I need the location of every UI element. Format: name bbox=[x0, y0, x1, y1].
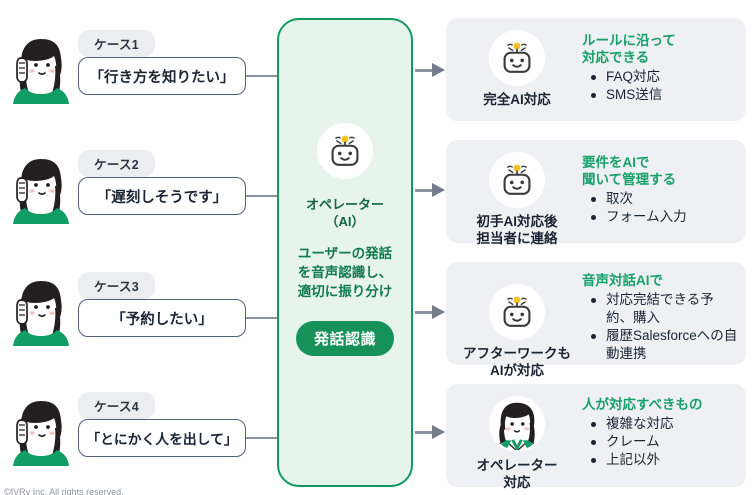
case-row-1: ケース1 「行き方を知りたい」 bbox=[0, 12, 270, 130]
result-card-2-identity: 初手AI対応後 担当者に連絡 bbox=[458, 152, 576, 247]
ai-operator-column: オペレーター （AI） ユーザーの発話 を音声認識し、 適切に振り分け 発話認識 bbox=[277, 18, 413, 487]
robot-icon bbox=[317, 123, 373, 179]
case-quote-2: 「遅刻しそうです」 bbox=[78, 177, 246, 215]
list-item: FAQ対応 bbox=[604, 68, 738, 86]
result-card-2-list: 取次 フォーム入力 bbox=[582, 190, 738, 226]
result-card-1-heading-line1: ルールに沿って bbox=[582, 32, 738, 49]
result-card-3-detail: 音声対話AIで 対応完結できる予約、購入 履歴Salesforceへの自動連携 bbox=[582, 272, 738, 363]
result-card-3-heading: 音声対話AIで bbox=[582, 272, 738, 289]
speech-recognition-tag: 発話認識 bbox=[296, 321, 394, 356]
list-item: 対応完結できる予約、購入 bbox=[604, 291, 738, 327]
operator-avatar-icon bbox=[489, 396, 545, 452]
result-card-1-heading: ルールに沿って 対応できる bbox=[582, 32, 738, 66]
result-card-4-detail: 人が対応すべきもの 複雑な対応 クレーム 上記以外 bbox=[582, 396, 738, 469]
result-card-4-label-line2: 対応 bbox=[477, 474, 558, 491]
robot-icon bbox=[489, 152, 545, 208]
list-item: 複雑な対応 bbox=[604, 415, 738, 433]
list-item: フォーム入力 bbox=[604, 208, 738, 226]
arrow-to-result-3 bbox=[415, 305, 445, 319]
result-card-3-list: 対応完結できる予約、購入 履歴Salesforceへの自動連携 bbox=[582, 291, 738, 363]
result-card-4: オペレーター 対応 人が対応すべきもの 複雑な対応 クレーム 上記以外 bbox=[446, 384, 746, 487]
arrow-to-result-4 bbox=[415, 425, 445, 439]
result-card-1-heading-line2: 対応できる bbox=[582, 49, 738, 66]
result-card-4-identity: オペレーター 対応 bbox=[458, 396, 576, 491]
result-card-1-detail: ルールに沿って 対応できる FAQ対応 SMS送信 bbox=[582, 32, 738, 104]
result-card-3: アフターワークも AIが対応 音声対話AIで 対応完結できる予約、購入 履歴Sa… bbox=[446, 262, 746, 365]
center-role-line1: オペレーター bbox=[279, 196, 411, 213]
center-description: ユーザーの発話 を音声認識し、 適切に振り分け bbox=[279, 244, 411, 301]
caller-avatar-icon bbox=[8, 32, 74, 104]
result-card-2-label-line2: 担当者に連絡 bbox=[477, 230, 558, 247]
list-item: SMS送信 bbox=[604, 86, 738, 104]
result-card-3-heading-line1: 音声対話AIで bbox=[582, 272, 738, 289]
case-label-4: ケース4 bbox=[78, 392, 155, 419]
case-row-4: ケース4 「とにかく人を出して」 bbox=[0, 374, 270, 492]
diagram-canvas: ケース1 「行き方を知りたい」 ケース2 「遅刻しそうです」 bbox=[0, 0, 752, 495]
center-desc-line3: 適切に振り分け bbox=[279, 282, 411, 301]
case-row-2: ケース2 「遅刻しそうです」 bbox=[0, 132, 270, 250]
result-card-1-label: 完全AI対応 bbox=[483, 91, 551, 108]
result-card-2-heading: 要件をAIで 聞いて管理する bbox=[582, 154, 738, 188]
result-card-1-label-line1: 完全AI対応 bbox=[483, 91, 551, 108]
center-desc-line2: を音声認識し、 bbox=[279, 263, 411, 282]
result-card-4-list: 複雑な対応 クレーム 上記以外 bbox=[582, 415, 738, 469]
result-card-2-label: 初手AI対応後 担当者に連絡 bbox=[477, 213, 558, 247]
case-label-1: ケース1 bbox=[78, 30, 155, 57]
arrow-to-result-1 bbox=[415, 63, 445, 77]
case-row-3: ケース3 「予約したい」 bbox=[0, 254, 270, 372]
result-card-2: 初手AI対応後 担当者に連絡 要件をAIで 聞いて管理する 取次 フォーム入力 bbox=[446, 140, 746, 243]
center-role-label: オペレーター （AI） bbox=[279, 196, 411, 230]
result-card-4-heading-line1: 人が対応すべきもの bbox=[582, 396, 738, 413]
result-card-2-heading-line1: 要件をAIで bbox=[582, 154, 738, 171]
center-robot-wrap bbox=[279, 123, 411, 179]
result-card-4-label-line1: オペレーター bbox=[477, 457, 558, 474]
case-label-2: ケース2 bbox=[78, 150, 155, 177]
robot-icon bbox=[489, 30, 545, 86]
footer-copyright: ©IVRy Inc. All rights reserved. bbox=[4, 487, 124, 495]
result-card-2-label-line1: 初手AI対応後 bbox=[477, 213, 558, 230]
result-card-4-heading: 人が対応すべきもの bbox=[582, 396, 738, 413]
caller-avatar-icon bbox=[8, 152, 74, 224]
list-item: 上記以外 bbox=[604, 451, 738, 469]
result-card-3-label: アフターワークも AIが対応 bbox=[463, 345, 571, 379]
caller-avatar-icon bbox=[8, 394, 74, 466]
result-card-2-detail: 要件をAIで 聞いて管理する 取次 フォーム入力 bbox=[582, 154, 738, 226]
result-card-4-label: オペレーター 対応 bbox=[477, 457, 558, 491]
list-item: クレーム bbox=[604, 433, 738, 451]
center-desc-line1: ユーザーの発話 bbox=[279, 244, 411, 263]
result-card-3-identity: アフターワークも AIが対応 bbox=[458, 284, 576, 379]
caller-avatar-icon bbox=[8, 274, 74, 346]
result-card-1: 完全AI対応 ルールに沿って 対応できる FAQ対応 SMS送信 bbox=[446, 18, 746, 121]
case-quote-4: 「とにかく人を出して」 bbox=[78, 419, 246, 457]
arrow-to-result-2 bbox=[415, 183, 445, 197]
center-role-line2: （AI） bbox=[279, 213, 411, 230]
robot-icon bbox=[489, 284, 545, 340]
case-label-3: ケース3 bbox=[78, 272, 155, 299]
result-card-3-label-line1: アフターワークも bbox=[463, 345, 571, 362]
result-card-1-list: FAQ対応 SMS送信 bbox=[582, 68, 738, 104]
case-quote-1: 「行き方を知りたい」 bbox=[78, 57, 246, 95]
result-card-2-heading-line2: 聞いて管理する bbox=[582, 171, 738, 188]
result-card-3-label-line2: AIが対応 bbox=[463, 362, 571, 379]
list-item: 取次 bbox=[604, 190, 738, 208]
case-quote-3: 「予約したい」 bbox=[78, 299, 246, 337]
list-item: 履歴Salesforceへの自動連携 bbox=[604, 327, 738, 363]
result-card-1-identity: 完全AI対応 bbox=[458, 30, 576, 108]
